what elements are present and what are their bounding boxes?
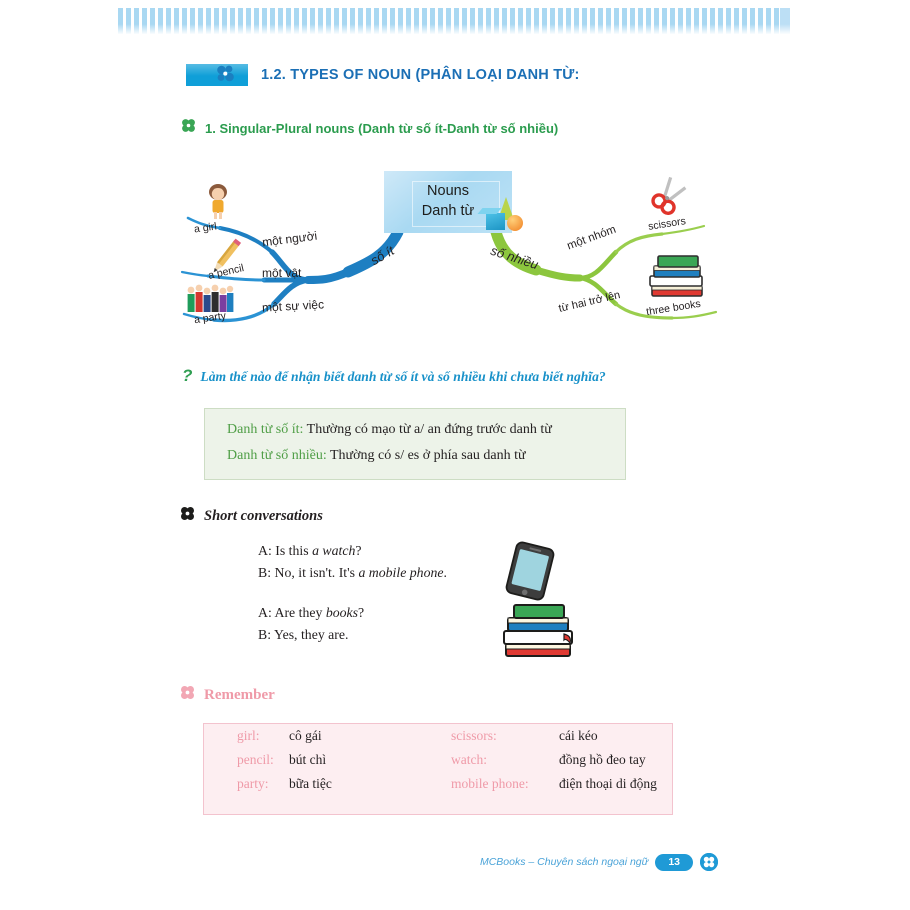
dialogue-2-line-a-post: ? xyxy=(358,605,364,620)
cube-shape-icon xyxy=(486,213,505,230)
page-title-text: 1.2. TYPES OF NOUN (PHÂN LOẠI DANH TỪ: xyxy=(261,67,580,83)
publisher-logo-icon xyxy=(700,853,718,871)
vocab-vi-5: đồng hồ đeo tay xyxy=(559,748,672,772)
vocab-vi-4: cái kéo xyxy=(559,724,672,748)
dialogue-2-line-b: B: Yes, they are. xyxy=(258,624,447,646)
short-conversations-heading: Short conversations xyxy=(180,506,323,526)
note-row-singular-body: Thường có mạo từ a/ an đứng trước danh t… xyxy=(307,422,552,437)
dialogue-1-line-a: A: Is this a watch? xyxy=(258,540,447,562)
speaker-b-2: B: xyxy=(258,627,271,642)
center-node-line1: Nouns xyxy=(384,181,512,201)
page-number-badge: 13 xyxy=(655,854,693,871)
note-box: Danh từ số ít: Thường có mạo từ a/ an đứ… xyxy=(204,408,626,480)
subsection-heading-singular-plural: 1. Singular-Plural nouns (Danh từ số ít-… xyxy=(181,118,558,138)
subsection-heading-text: 1. Singular-Plural nouns (Danh từ số ít-… xyxy=(205,121,558,136)
dialogue-spacer xyxy=(258,584,447,602)
dialogue-1-line-b-em: a mobile phone xyxy=(358,565,443,580)
note-row-plural-lead: Danh từ số nhiều: xyxy=(227,448,327,463)
short-conversations-heading-text: Short conversations xyxy=(204,508,323,525)
vocab-en-4: scissors: xyxy=(441,724,559,748)
vocab-vi-6: điện thoại di động xyxy=(559,772,672,796)
clover-icon-green xyxy=(181,118,196,138)
dialogue-1: A: Is this a watch? B: No, it isn't. It'… xyxy=(258,540,447,584)
scissors-icon xyxy=(648,172,692,216)
mobile-phone-icon xyxy=(502,539,558,604)
remember-heading-text: Remember xyxy=(204,687,275,704)
speaker-a-1: A: xyxy=(258,543,272,558)
remember-heading: Remember xyxy=(180,685,275,705)
dialogue-1-line-a-pre: Is this xyxy=(272,543,312,558)
vocab-en-3: party: xyxy=(204,772,289,796)
vocab-table: girl: cô gái scissors: cái kéo pencil: b… xyxy=(204,724,672,796)
clover-icon-black xyxy=(180,506,195,526)
dialogue-2-line-a-em: books xyxy=(326,605,358,620)
mindmap-label-mot-vat: một vật xyxy=(262,266,301,280)
table-row: girl: cô gái scissors: cái kéo xyxy=(204,724,672,748)
vocab-vi-1: cô gái xyxy=(289,724,441,748)
stripe-fade-overlay xyxy=(118,8,790,34)
speaker-a-2: A: xyxy=(258,605,272,620)
dialogue-1-line-a-post: ? xyxy=(355,543,361,558)
stack-of-books-icon xyxy=(500,600,578,662)
note-row-singular: Danh từ số ít: Thường có mạo từ a/ an đứ… xyxy=(227,422,552,438)
vocab-en-6: mobile phone: xyxy=(441,772,559,796)
vocab-en-5: watch: xyxy=(441,748,559,772)
books-icon xyxy=(646,252,708,302)
mind-map-diagram: Nouns Danh từ xyxy=(180,160,740,335)
dialogue-1-line-b-pre: No, it isn't. It's xyxy=(271,565,358,580)
question-prompt-text: Làm thế nào để nhận biết danh từ số ít v… xyxy=(200,369,605,385)
girl-icon xyxy=(198,182,238,222)
vocab-vi-2: bút chì xyxy=(289,748,441,772)
party-icon xyxy=(184,282,234,316)
note-row-singular-lead: Danh từ số ít: xyxy=(227,422,303,437)
page-title: 1.2. TYPES OF NOUN (PHÂN LOẠI DANH TỪ: xyxy=(186,62,580,88)
table-row: party: bữa tiệc mobile phone: điện thoại… xyxy=(204,772,672,796)
vocab-en-1: girl: xyxy=(204,724,289,748)
table-row: pencil: bút chì watch: đồng hồ đeo tay xyxy=(204,748,672,772)
dialogue-2: A: Are they books? B: Yes, they are. xyxy=(258,602,447,646)
page-footer: MCBooks – Chuyên sách ngoại ngữ 13 xyxy=(480,853,718,871)
dialogue-2-line-b-pre: Yes, they are. xyxy=(271,627,348,642)
vocab-vi-3: bữa tiệc xyxy=(289,772,441,796)
vocab-en-2: pencil: xyxy=(204,748,289,772)
footer-publisher-text: MCBooks – Chuyên sách ngoại ngữ xyxy=(480,856,648,868)
dialogue-1-line-b: B: No, it isn't. It's a mobile phone. xyxy=(258,562,447,584)
top-decorative-bar xyxy=(118,8,790,34)
speaker-b-1: B: xyxy=(258,565,271,580)
clover-icon-pink xyxy=(180,685,195,705)
remember-vocab-box: girl: cô gái scissors: cái kéo pencil: b… xyxy=(203,723,673,815)
clover-icon-blue xyxy=(214,63,236,90)
sphere-shape-icon xyxy=(507,215,523,231)
question-prompt: ? Làm thế nào để nhận biết danh từ số ít… xyxy=(182,366,606,386)
conversations-block: A: Is this a watch? B: No, it isn't. It'… xyxy=(258,540,447,646)
question-mark-icon: ? xyxy=(182,366,192,386)
dialogue-2-line-a-pre: Are they xyxy=(272,605,326,620)
note-row-plural-body: Thường có s/ es ở phía sau danh từ xyxy=(330,448,526,463)
note-row-plural: Danh từ số nhiều: Thường có s/ es ở phía… xyxy=(227,448,526,464)
dialogue-1-line-b-post: . xyxy=(444,565,447,580)
dialogue-2-line-a: A: Are they books? xyxy=(258,602,447,624)
dialogue-1-line-a-em: a watch xyxy=(312,543,355,558)
